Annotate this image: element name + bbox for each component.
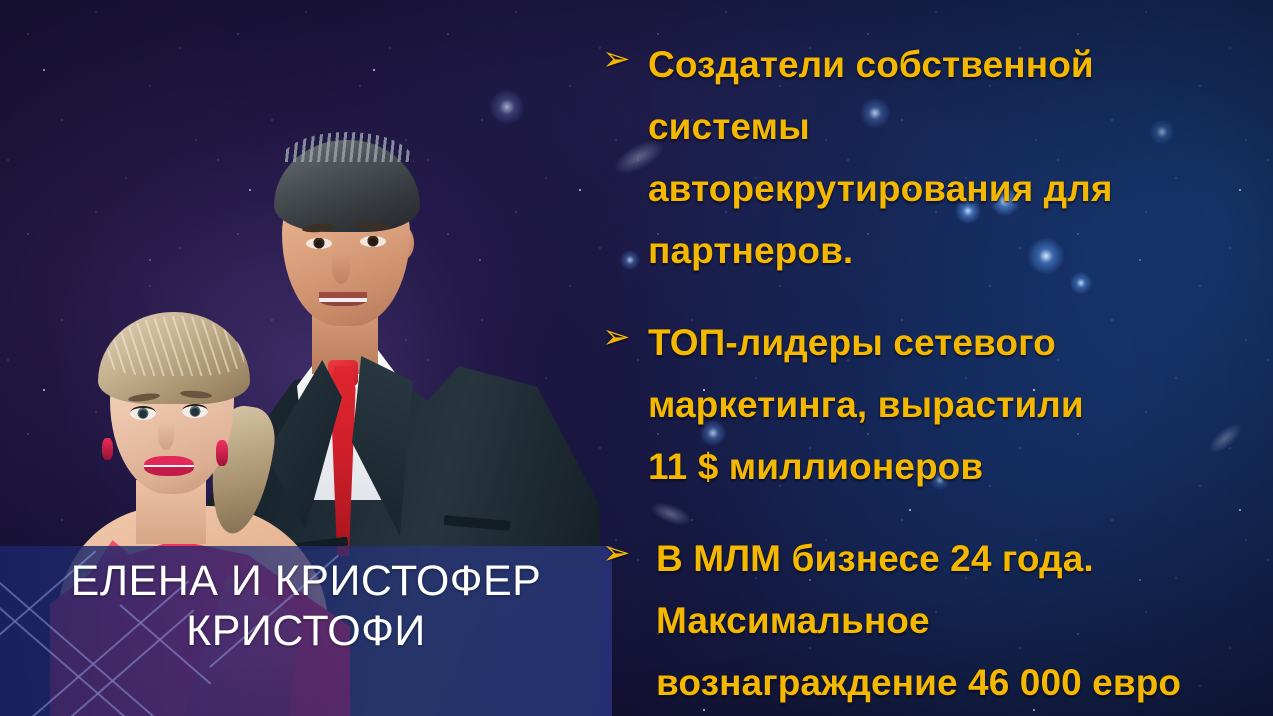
bullet-1-line-4: партнеров. bbox=[648, 220, 1208, 282]
presenter-name-line-1: ЕЛЕНА И КРИСТОФЕР bbox=[0, 557, 612, 607]
man-eye bbox=[360, 236, 386, 247]
bullet-list: ➢ Создатели собственной системы авторекр… bbox=[602, 34, 1273, 694]
bullet-text-3: В МЛМ бизнесе 24 года. Максимальное возн… bbox=[648, 528, 1273, 714]
bullet-1-line-2: системы bbox=[648, 96, 1208, 158]
woman-lips bbox=[144, 456, 194, 476]
man-smile bbox=[319, 292, 367, 306]
man-nose bbox=[332, 254, 350, 284]
presenter-name-line-2: КРИСТОФИ bbox=[0, 607, 612, 657]
bullet-3-line-1: В МЛМ бизнесе 24 года. bbox=[656, 528, 1273, 590]
man-hair bbox=[274, 140, 420, 232]
bullet-3-line-3: вознаграждение 46 000 евро bbox=[656, 652, 1273, 714]
bullet-2-line-1: ТОП-лидеры сетевого bbox=[648, 312, 1178, 374]
presenter-name-banner: ЕЛЕНА И КРИСТОФЕР КРИСТОФИ bbox=[0, 546, 612, 716]
arrow-bullet-icon: ➢ bbox=[602, 312, 648, 362]
arrow-bullet-icon: ➢ bbox=[602, 34, 648, 84]
woman-earring bbox=[216, 440, 228, 466]
woman-nose bbox=[158, 422, 174, 450]
woman-eye bbox=[130, 406, 156, 420]
bullet-3-line-2: Максимальное bbox=[656, 590, 1273, 652]
presenter-name-text: ЕЛЕНА И КРИСТОФЕР КРИСТОФИ bbox=[0, 546, 612, 657]
woman-earring bbox=[102, 438, 113, 460]
arrow-bullet-icon: ➢ bbox=[602, 528, 648, 578]
bullet-item-1: ➢ Создатели собственной системы авторекр… bbox=[602, 34, 1273, 282]
bullet-text-2: ТОП-лидеры сетевого маркетинга, вырастил… bbox=[648, 312, 1178, 498]
man-eye bbox=[306, 238, 332, 249]
woman-eye bbox=[182, 404, 208, 418]
bullet-text-1: Создатели собственной системы авторекрут… bbox=[648, 34, 1208, 282]
bullet-item-3: ➢ В МЛМ бизнесе 24 года. Максимальное во… bbox=[602, 528, 1273, 714]
bullet-2-line-3: 11 $ миллионеров bbox=[648, 436, 1178, 498]
bullet-1-line-1: Создатели собственной bbox=[648, 34, 1208, 96]
bullet-2-line-2: маркетинга, вырастили bbox=[648, 374, 1178, 436]
presentation-slide: ЕЛЕНА И КРИСТОФЕР КРИСТОФИ ➢ Создатели с… bbox=[0, 0, 1273, 716]
bullet-item-2: ➢ ТОП-лидеры сетевого маркетинга, выраст… bbox=[602, 312, 1273, 498]
bullet-1-line-3: авторекрутирования для bbox=[648, 158, 1208, 220]
